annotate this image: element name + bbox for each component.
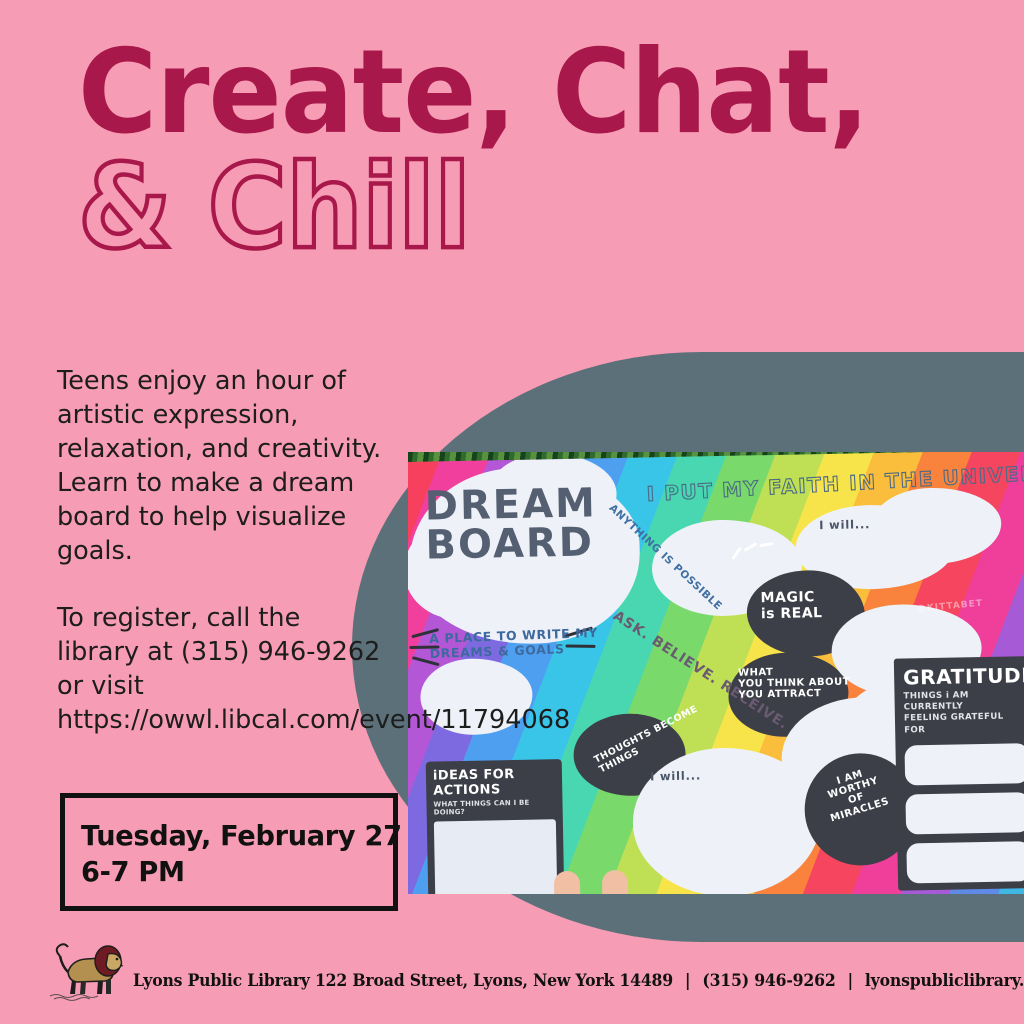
poster-description: Teens enjoy an hour of artistic expressi… — [57, 365, 387, 738]
event-date-box: Tuesday, February 27 6-7 PM — [60, 793, 398, 911]
board-title: DREAM BOARD — [424, 484, 598, 566]
gratitude-title: GRATITUDE — [903, 665, 1024, 687]
gratitude-slot — [904, 743, 1024, 785]
lion-logo-icon — [46, 938, 130, 1002]
gratitude-slot — [906, 841, 1024, 883]
attract-line-3: YOU ATTRACT — [738, 688, 850, 701]
dream-board-photo: DREAM BOARD A PLACE TO WRITE MY DREAMS &… — [408, 452, 1024, 894]
dream-board-photo-inner: DREAM BOARD A PLACE TO WRITE MY DREAMS &… — [408, 452, 1024, 894]
footer-address: Lyons Public Library 122 Broad Street, L… — [133, 971, 673, 990]
ideas-slot — [434, 819, 558, 894]
headline-line-1: Create, Chat, — [78, 38, 869, 147]
description-paragraph-2: To register, call the library at (315) 9… — [57, 602, 387, 738]
footer-website: lyonspubliclibrary.org — [865, 971, 1024, 990]
finger — [554, 871, 581, 894]
poster-footer: Lyons Public Library 122 Broad Street, L… — [0, 938, 1024, 1024]
event-date: Tuesday, February 27 — [81, 818, 384, 854]
gratitude-sub-line-1: THINGS i AM CURRENTLY — [903, 689, 1024, 714]
i-will-prompt: I will... — [819, 517, 870, 532]
poster-canvas: Create, Chat, & Chill Teens enjoy an hou… — [0, 0, 1024, 1024]
gratitude-subtitle: THINGS i AM CURRENTLY FEELING GRATEFUL F… — [903, 689, 1024, 736]
ideas-title: iDEAS FOR ACTIONS — [433, 766, 556, 798]
footer-info: Lyons Public Library 122 Broad Street, L… — [133, 971, 1024, 990]
footer-separator: | — [678, 971, 697, 990]
gratitude-sub-line-2: FEELING GRATEFUL FOR — [904, 711, 1024, 736]
footer-phone: (315) 946-9262 — [702, 971, 835, 990]
board-title-line-2: BOARD — [425, 524, 598, 566]
gratitude-panel: GRATITUDE THINGS i AM CURRENTLY FEELING … — [894, 656, 1024, 891]
i-will-prompt: I will... — [650, 768, 701, 783]
cloud-shape — [871, 487, 1002, 565]
poster-headline: Create, Chat, & Chill — [78, 38, 928, 262]
footer-separator: | — [841, 971, 860, 990]
magic-line-2: is REAL — [761, 606, 823, 623]
event-time: 6-7 PM — [81, 854, 384, 890]
description-paragraph-1: Teens enjoy an hour of artistic expressi… — [57, 365, 387, 568]
gratitude-slot — [905, 792, 1024, 834]
magic-is-real-label: MAGIC is REAL — [760, 590, 822, 623]
finger — [602, 870, 629, 894]
ideas-subtitle: WHAT THINGS CAN I BE DOING? — [433, 798, 555, 816]
rainbow-board: DREAM BOARD A PLACE TO WRITE MY DREAMS &… — [408, 452, 1024, 894]
headline-line-2: & Chill — [78, 147, 869, 262]
ideas-for-actions-panel: iDEAS FOR ACTIONS WHAT THINGS CAN I BE D… — [426, 759, 565, 894]
board-subtitle: A PLACE TO WRITE MY DREAMS & GOALS — [429, 625, 599, 662]
attract-label: WHAT YOU THINK ABOUT YOU ATTRACT — [738, 666, 850, 702]
